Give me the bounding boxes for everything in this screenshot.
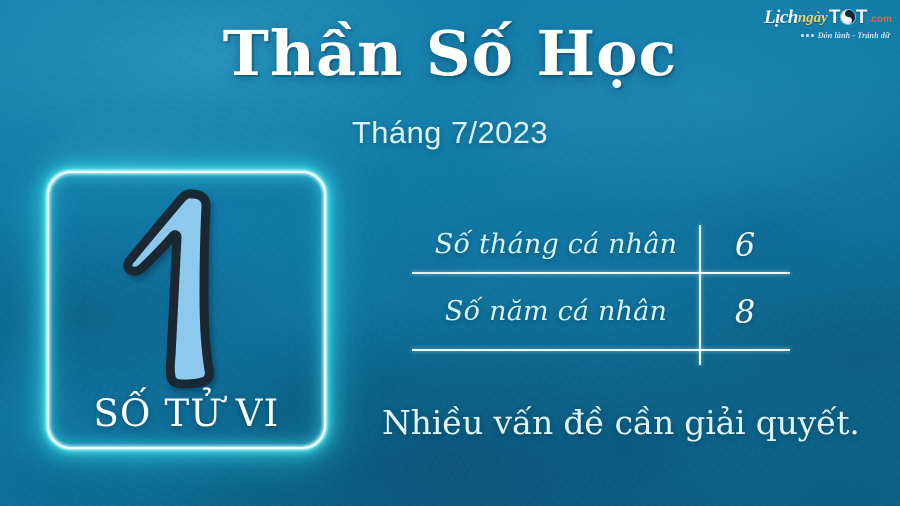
table-divider-vertical	[699, 225, 701, 365]
page-title: Thần Số Học	[0, 22, 900, 85]
page-subtitle: Tháng 7/2023	[0, 115, 900, 151]
table-row: Số tháng cá nhân 6	[412, 216, 790, 273]
numerology-card-canvas: Lịch ngày T T .com Đón lành - Tránh dữ T…	[0, 0, 900, 506]
numerology-table: Số tháng cá nhân 6 Số năm cá nhân 8	[412, 216, 790, 350]
table-row: Số năm cá nhân 8	[412, 273, 790, 350]
table-row-value: 6	[700, 226, 790, 264]
table-divider-horizontal	[412, 272, 790, 274]
zodiac-number-digit	[100, 186, 240, 391]
table-divider-horizontal	[412, 349, 790, 351]
table-row-value: 8	[700, 293, 790, 331]
summary-text: Nhiều vấn đề cần giải quyết.	[382, 403, 822, 442]
table-row-label: Số tháng cá nhân	[412, 229, 700, 260]
zodiac-number-label: SỐ TỬ VI	[47, 392, 326, 435]
table-row-label: Số năm cá nhân	[412, 296, 700, 327]
